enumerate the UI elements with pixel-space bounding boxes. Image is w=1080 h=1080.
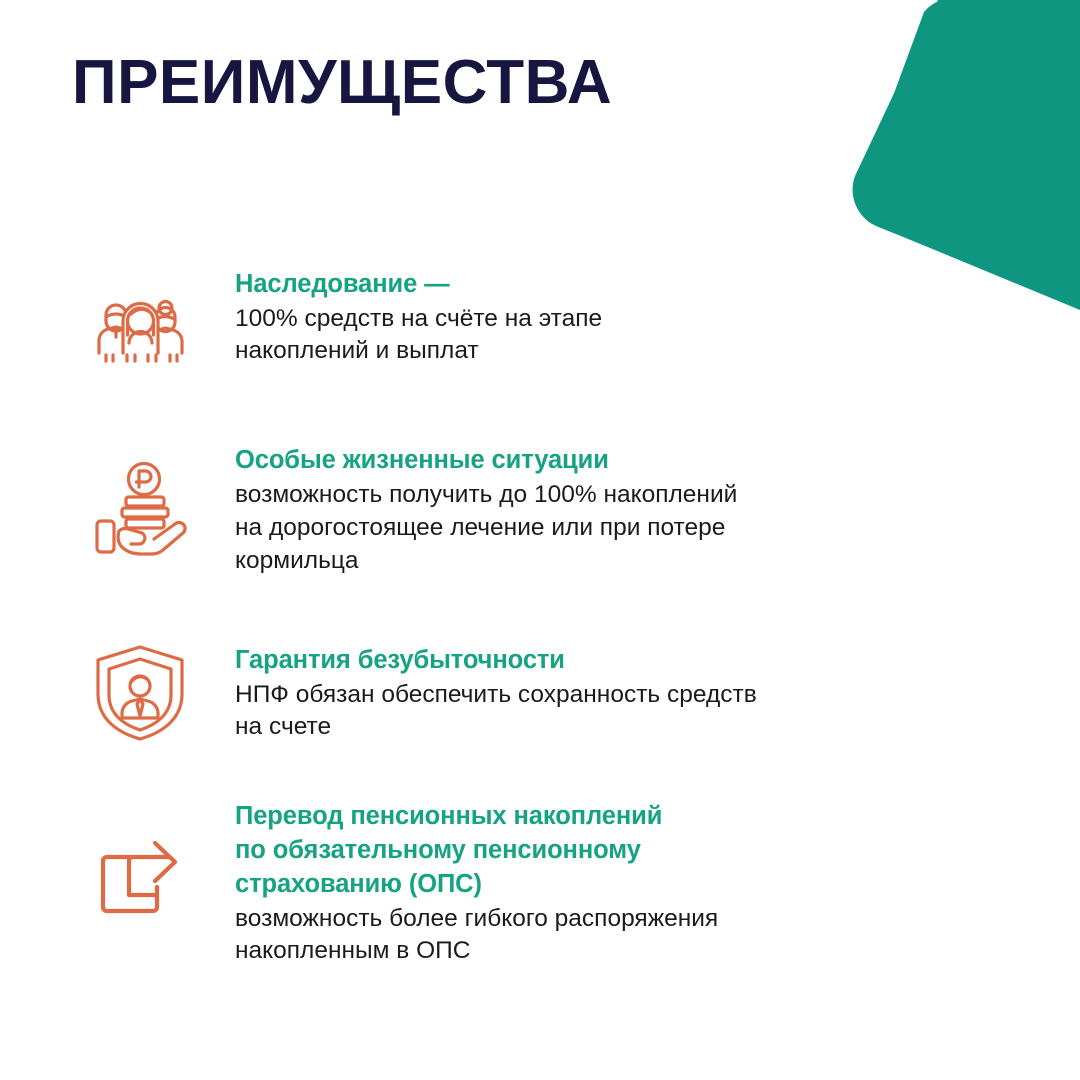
benefit-text-special-life-situations: Особые жизненные ситуации возможность по… — [200, 442, 1040, 577]
benefit-body-line: возможность получить до 100% накоплений — [235, 479, 1040, 512]
family-group-icon — [80, 265, 200, 369]
hand-with-ruble-coins-icon — [80, 458, 200, 562]
benefit-heading: Гарантия безубыточности — [235, 644, 1040, 678]
benefit-body: НПФ обязан обеспечить сохранность средст… — [235, 679, 1040, 745]
page-title: ПРЕИМУЩЕСТВА — [72, 52, 612, 114]
benefit-item-break-even-guarantee: Гарантия безубыточности НПФ обязан обесп… — [0, 608, 1080, 778]
benefit-body-line: кормильца — [235, 545, 1040, 578]
benefit-body-line: на счете — [235, 711, 1040, 744]
shield-with-person-icon — [80, 641, 200, 745]
benefit-heading-line: Перевод пенсионных накоплений — [235, 800, 1040, 834]
benefit-body-line: возможность более гибкого распоряжения — [235, 903, 1040, 936]
benefit-item-special-life-situations: Особые жизненные ситуации возможность по… — [0, 412, 1080, 608]
benefit-body-line: на дорогостоящее лечение или при потере — [235, 512, 1040, 545]
benefit-item-inheritance: Наследование — 100% средств на счёте на … — [0, 222, 1080, 412]
benefit-body-line: накопленным в ОПС — [235, 935, 1040, 968]
benefit-body: возможность более гибкого распоряжения н… — [235, 903, 1040, 969]
benefit-text-inheritance: Наследование — 100% средств на счёте на … — [200, 266, 1040, 369]
benefit-body: 100% средств на счёте на этапе накоплени… — [235, 303, 1040, 369]
benefit-item-ops-transfer: Перевод пенсионных накоплений по обязате… — [0, 778, 1080, 988]
export-arrow-icon — [80, 831, 200, 935]
benefit-heading: Наследование — — [235, 268, 1040, 302]
benefit-heading-line: страхованию (ОПС) — [235, 868, 1040, 902]
benefit-text-break-even-guarantee: Гарантия безубыточности НПФ обязан обесп… — [200, 642, 1040, 745]
benefit-body-line: 100% средств на счёте на этапе — [235, 303, 1040, 336]
benefit-heading: Особые жизненные ситуации — [235, 444, 1040, 478]
slide-root: ПРЕИМУЩЕСТВА — [0, 0, 1080, 1080]
benefits-list: Наследование — 100% средств на счёте на … — [0, 222, 1080, 988]
benefit-body-line: накоплений и выплат — [235, 335, 1040, 368]
benefit-heading: Перевод пенсионных накоплений по обязате… — [235, 800, 1040, 902]
benefit-heading-line: по обязательному пенсионному — [235, 834, 1040, 868]
benefit-text-ops-transfer: Перевод пенсионных накоплений по обязате… — [200, 798, 1040, 968]
benefit-body-line: НПФ обязан обеспечить сохранность средст… — [235, 679, 1040, 712]
benefit-body: возможность получить до 100% накоплений … — [235, 479, 1040, 577]
